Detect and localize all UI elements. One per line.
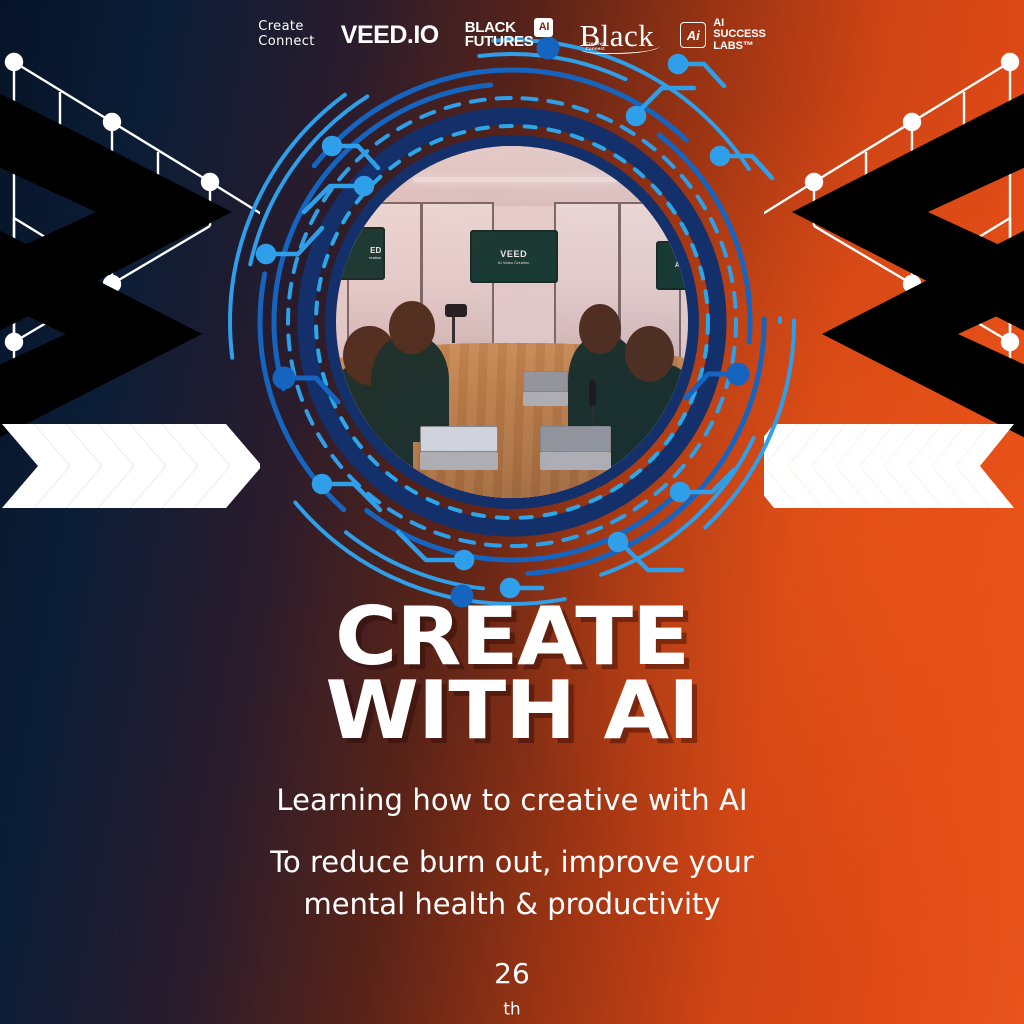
event-poster: Create Connect VEED.IO BLACK FUTURES AI …: [0, 0, 1024, 1024]
left-node-network-lower: [14, 218, 112, 370]
logo-black: Black CreativeConnect: [579, 20, 654, 51]
logo-veed-io: VEED.IO: [341, 21, 439, 50]
logo-black-futures: BLACK FUTURES AI: [465, 21, 554, 50]
ai-square-badge-icon: Ai: [680, 22, 706, 48]
event-date-day: 26: [0, 953, 1024, 995]
event-photo: ED reation VEED AI Video Creation A: [336, 146, 688, 498]
tagline: Learning how to creative with AI: [0, 783, 1024, 817]
event-date-time: 26th May 2026 | 6-8pm: [0, 953, 1024, 1024]
benefit-line-1: To reduce burn out, improve your: [0, 841, 1024, 883]
page-title: CREATE WITH AI: [0, 600, 1024, 749]
sponsor-logo-bar: Create Connect VEED.IO BLACK FUTURES AI …: [0, 0, 1024, 70]
wall-screen-main: VEED AI Video Creation: [470, 230, 558, 283]
logo-create-connect: Create Connect: [258, 20, 315, 49]
logo-create-connect-line1: Create: [258, 20, 315, 35]
logo-ai-success-labs-text: AI SUCCESS LABS™: [713, 18, 765, 52]
left-black-chevron: [0, 78, 232, 346]
wall-screen-left: ED reation: [336, 227, 385, 280]
right-black-chevron-2: [822, 200, 1024, 468]
benefit-text: To reduce burn out, improve your mental …: [0, 841, 1024, 925]
benefit-line-2: mental health & productivity: [0, 883, 1024, 925]
left-black-chevron-2: [0, 200, 202, 468]
logo-ai-success-labs: Ai AI SUCCESS LABS™: [680, 18, 765, 52]
wall-screen-right: A: [656, 241, 688, 290]
logo-black-futures-line2: FUTURES: [465, 35, 534, 49]
event-details: 26th May 2026 | 6-8pm Veed HQ, London: [0, 953, 1024, 1024]
logo-create-connect-line2: Connect: [258, 35, 315, 50]
laptop-screen-veed: [420, 426, 497, 452]
ai-badge-icon: AI: [534, 18, 553, 37]
poster-text-block: CREATE WITH AI Learning how to creative …: [0, 600, 1024, 1024]
event-date-ordinal: th: [503, 999, 520, 1019]
right-node-network-lower: [912, 218, 1010, 370]
headline-line-2: WITH AI: [0, 674, 1024, 748]
circuit-ring-graphic: ED reation VEED AI Video Creation A: [212, 22, 812, 622]
right-black-chevron: [792, 78, 1024, 346]
